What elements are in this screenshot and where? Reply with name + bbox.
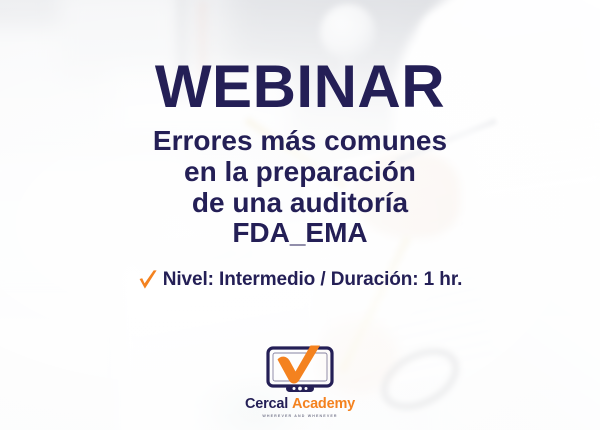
logo-word-primary: Cercal [245, 396, 288, 412]
subtitle-line-1: Errores más comunes [153, 126, 447, 157]
cercal-academy-logo: Cercal Academy WHEREVER AND WHENEVER [0, 345, 600, 418]
subtitle-line-3: de una auditoría [153, 188, 447, 219]
webinar-poster: WEBINAR Errores más comunes en la prepar… [0, 0, 600, 430]
logo-tagline: WHEREVER AND WHENEVER [262, 414, 337, 418]
logo-word-accent: Academy [292, 396, 355, 412]
logo-wordmark: Cercal Academy [245, 397, 355, 412]
level-duration-row: Nivel: Intermedio / Duración: 1 hr. [138, 269, 463, 291]
subtitle-line-2: en la preparación [153, 157, 447, 188]
poster-subtitle: Errores más comunes en la preparación de… [153, 126, 447, 249]
check-icon [138, 269, 158, 291]
poster-title: WEBINAR [155, 57, 445, 117]
level-duration-text: Nivel: Intermedio / Duración: 1 hr. [163, 269, 463, 291]
subtitle-line-4: FDA_EMA [153, 218, 447, 249]
monitor-checkmark-logo-icon [263, 345, 337, 395]
